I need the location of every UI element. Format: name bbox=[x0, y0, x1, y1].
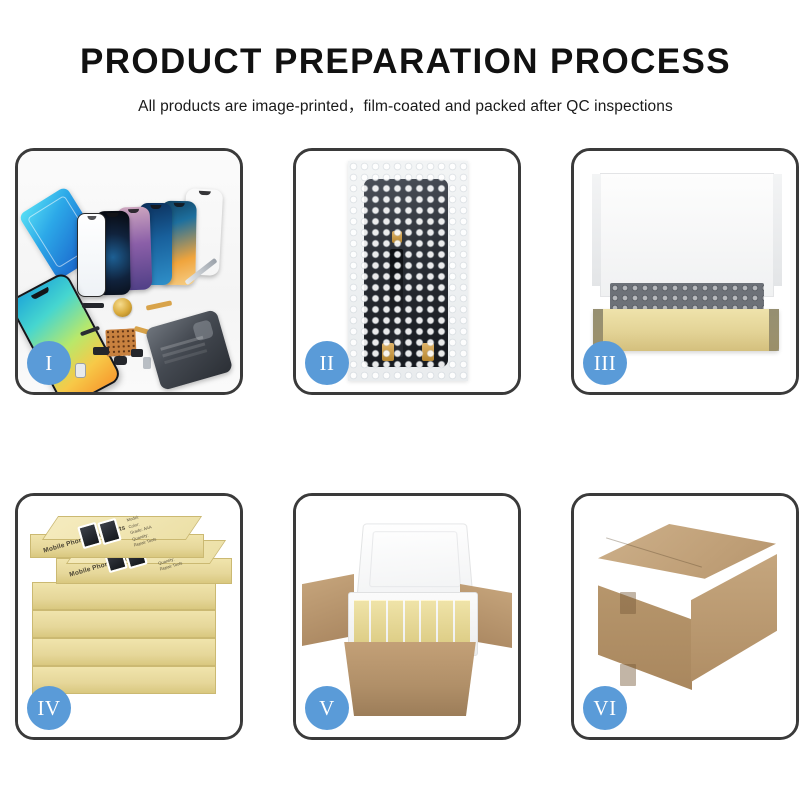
gold-box-icon bbox=[455, 600, 470, 646]
gold-box-icon bbox=[32, 638, 216, 666]
chip-part-icon bbox=[75, 363, 86, 378]
gold-box-icon bbox=[32, 610, 216, 638]
gold-box-icon bbox=[354, 600, 369, 646]
gold-box-base-icon bbox=[593, 309, 779, 351]
chip-part-icon bbox=[114, 356, 127, 365]
gold-coil-part-icon bbox=[113, 298, 132, 317]
step-badge-3: III bbox=[583, 341, 627, 385]
foam-lid-icon bbox=[357, 523, 474, 596]
carton-flap-left-icon bbox=[302, 574, 354, 646]
page-subtitle: All products are image-printed，film-coat… bbox=[0, 94, 811, 116]
bubble-texture-icon bbox=[348, 161, 468, 381]
step-card-2: II bbox=[293, 148, 521, 395]
phone-back-housing-icon bbox=[145, 309, 234, 391]
chip-part-icon bbox=[82, 303, 104, 308]
carton-front-face-icon bbox=[598, 564, 692, 690]
carton-body-icon bbox=[340, 642, 480, 716]
step-badge-4: IV bbox=[27, 686, 71, 730]
step-card-1: I bbox=[15, 148, 243, 395]
chip-part-icon bbox=[93, 347, 109, 355]
step-card-3: III bbox=[571, 148, 799, 395]
step-badge-2: II bbox=[305, 341, 349, 385]
step-card-4: Mobile Phone Spare Parts Model:Color:Gra… bbox=[15, 493, 243, 740]
gold-box-icon bbox=[32, 582, 216, 610]
gold-box-icon bbox=[421, 600, 436, 646]
chip-part-icon bbox=[131, 349, 143, 357]
gold-box-icon bbox=[405, 600, 420, 646]
gold-box-icon bbox=[371, 600, 386, 646]
header: PRODUCT PREPARATION PROCESS All products… bbox=[0, 0, 811, 116]
box-white-lid-icon bbox=[600, 173, 774, 297]
process-step-grid: I II III bbox=[15, 148, 796, 740]
page-title: PRODUCT PREPARATION PROCESS bbox=[0, 44, 811, 81]
carton-tape-icon bbox=[620, 592, 636, 614]
gold-boxes-inside-icon bbox=[354, 600, 470, 646]
flex-cable-part-icon bbox=[146, 300, 172, 310]
bubble-wrap-pouch-icon bbox=[348, 161, 468, 381]
gold-box-icon bbox=[438, 600, 453, 646]
step-badge-6: VI bbox=[583, 686, 627, 730]
phone-white-glass-icon bbox=[77, 213, 106, 297]
step-badge-5: V bbox=[305, 686, 349, 730]
carton-tape-icon bbox=[620, 664, 636, 686]
step-card-6: VI bbox=[571, 493, 799, 740]
step-card-5: V bbox=[293, 493, 521, 740]
gold-box-icon bbox=[388, 600, 403, 646]
chip-part-icon bbox=[143, 357, 151, 369]
step-badge-1: I bbox=[27, 341, 71, 385]
